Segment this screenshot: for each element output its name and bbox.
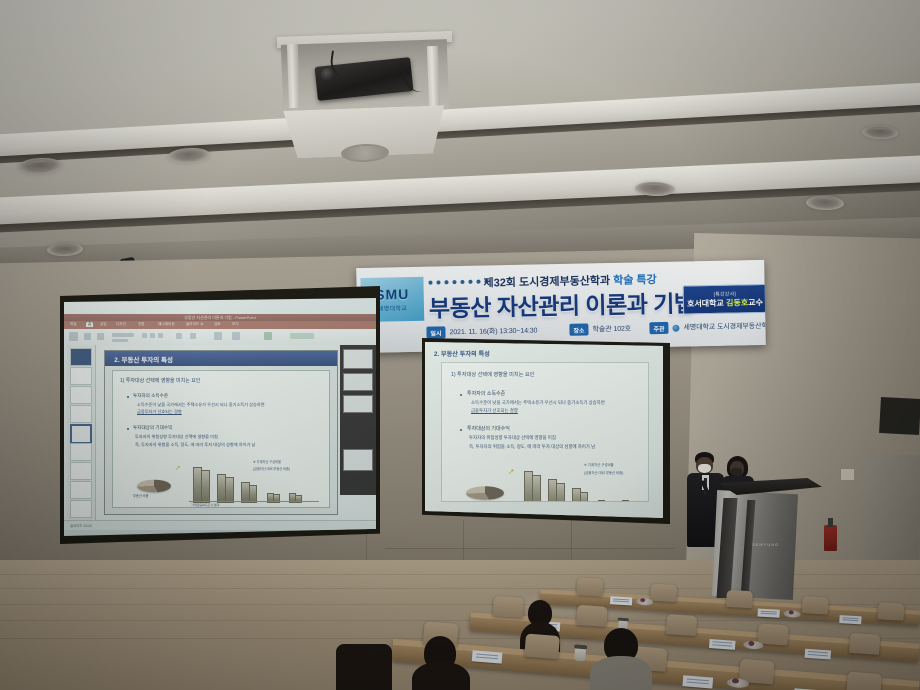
slide-canvas: 2. 부동산 투자의 특성 1) 투자대상 선택에 영향을 미치는 요인 투자자… [104, 350, 338, 515]
speaker-name-line: 호서대학교 김동호교수 [687, 296, 763, 309]
banner-dot-decoration [428, 279, 488, 284]
ribbon-find-icon[interactable] [264, 332, 272, 340]
chart-axis [189, 501, 319, 502]
audience-seat[interactable] [726, 590, 753, 608]
podium-label: SEMYUNG [752, 542, 779, 547]
projected-bullet-2-head: 투자대상의 기대수익 [467, 425, 510, 432]
projected-chart-pie [466, 486, 504, 499]
tab-view[interactable]: 보기 [232, 322, 239, 327]
tab-design[interactable]: 디자인 [116, 322, 126, 327]
ribbon-editing-group[interactable] [290, 333, 314, 339]
bullet-1-line-2: 금융투자가 선호되는 경향 [137, 409, 182, 415]
wall-outlet [840, 468, 855, 481]
slide-content-box: 1) 투자대상 선택에 영향을 미치는 요인 투자자의 소득수준 소득수준이 낮… [112, 370, 330, 508]
event-banner: SMU 세명대학교 제32회 도시경제부동산학과 학술 특강 부동산 자산관리 … [356, 260, 766, 353]
projector-lift-arm-left [287, 44, 300, 108]
projected-chart-arrow-icon: ➚ [508, 467, 515, 476]
slide-thumbnail[interactable] [70, 405, 92, 423]
ribbon-font-selector[interactable] [112, 333, 134, 337]
banner-main-title: 부동산 자산관리 이론과 기법 [429, 284, 695, 323]
powerpoint-title-bar: 부동산 자산관리 이론과 기법 - PowerPoint [64, 314, 376, 321]
ribbon-newslide-icon[interactable] [84, 333, 91, 340]
smu-abbr: SMU [375, 286, 409, 303]
ribbon-italic-icon[interactable] [150, 333, 155, 338]
slide-thumbnail[interactable] [70, 481, 92, 499]
right-projection-screen-frame: 2. 부동산 투자의 특성 1) 투자대상 선택에 영향을 미치는 요인 투자자… [422, 338, 670, 524]
chart-bar [295, 495, 302, 503]
audience-seat[interactable] [576, 605, 607, 627]
audience-seat[interactable] [877, 602, 904, 620]
powerpoint-ribbon[interactable] [64, 329, 376, 346]
audience-seat[interactable] [524, 633, 560, 659]
chart-caption-1: ※ 가계자산 구성비율 [253, 459, 281, 464]
projected-bullet-1-line-2: 금융투자가 선호되는 경향 [471, 408, 518, 414]
slide-thumbnail[interactable] [70, 386, 92, 404]
projected-heading: 1) 투자대상 선택에 영향을 미치는 요인 [451, 371, 534, 378]
chart-bar [201, 470, 210, 503]
attendee [336, 644, 392, 690]
bullet-marker [460, 394, 462, 396]
bullet-2-line-2: 즉, 투자자의 위험을 소득, 정도, 에 따라 투자 대상의 성향에 차이가 … [135, 442, 255, 448]
speaker-affiliation: 호서대학교 [687, 298, 724, 308]
footer-chip-date: 일시 [426, 326, 445, 338]
audience-seat[interactable] [846, 671, 882, 690]
bullet-2-head: 투자대상의 기대수익 [133, 425, 172, 431]
assistant-face-mask [731, 468, 742, 476]
banner-footer-date: 일시 2021. 11. 16(화) 13:30~14:30 [426, 324, 537, 338]
projected-slide-title: 2. 부동산 투자의 특성 [434, 349, 490, 358]
projected-bullet-2-line-2: 즉, 투자자의 위험을 소득, 정도, 에 따라 투자 대상의 성향에 차이가 … [469, 444, 595, 450]
bullet-marker [460, 429, 462, 431]
bullet-1-head: 투자자의 소득수준 [133, 393, 168, 399]
tab-home[interactable]: 홈 [86, 322, 93, 327]
ribbon-align-icon[interactable] [176, 333, 182, 339]
slide-heading: 1) 투자대상 선택에 영향을 미치는 요인 [120, 377, 200, 384]
slide-thumbnail[interactable] [70, 348, 92, 366]
handout-paper [472, 650, 503, 663]
footer-chip-host: 주관 [649, 322, 668, 334]
ribbon-paste-icon[interactable] [69, 332, 78, 341]
bullet-marker [127, 428, 129, 430]
projected-chart-bar [532, 475, 541, 502]
ribbon-bold-icon[interactable] [142, 333, 147, 338]
audience-seat[interactable] [666, 614, 697, 636]
banner-footer-place: 장소 학술관 102호 [569, 323, 631, 336]
tab-transitions[interactable]: 전환 [138, 322, 145, 327]
left-projection-screen: 부동산 자산관리 이론과 기법 - PowerPoint 파일 홈 삽입 디자인… [64, 298, 376, 536]
ribbon-arrange-icon[interactable] [214, 332, 222, 340]
tab-file[interactable]: 파일 [70, 322, 77, 327]
footer-value-host: 세명대학교 도시경제부동산학과 [683, 321, 765, 333]
tab-animations[interactable]: 애니메이션 [158, 322, 175, 327]
footer-value-date: 2021. 11. 16(화) 13:30~14:30 [449, 325, 537, 337]
slide-title: 2. 부동산 투자의 특성 [114, 354, 173, 364]
side-panel-preview[interactable] [343, 349, 373, 369]
handout-paper [682, 675, 713, 688]
tab-insert[interactable]: 삽입 [100, 322, 107, 327]
slide-chart-pie [137, 480, 171, 493]
audience-seat[interactable] [802, 596, 829, 614]
ribbon-layout-icon[interactable] [97, 333, 104, 340]
chart-pie-label: 부동산 비중 [133, 493, 149, 498]
powerpoint-status-bar: 슬라이드 12/40 [64, 520, 376, 530]
attendee-body [336, 644, 392, 690]
slide-thumbnail-selected[interactable] [70, 424, 92, 444]
footer-value-place: 학술관 102호 [592, 324, 631, 335]
coffee-cup [574, 647, 586, 661]
speaker-box: [특강강사] 호서대학교 김동호교수 [683, 284, 766, 315]
bullet-marker [127, 396, 129, 398]
fire-extinguisher-icon [824, 525, 837, 551]
projected-chart-bar [580, 492, 588, 502]
audience-seat[interactable] [650, 584, 677, 602]
tab-slideshow[interactable]: 슬라이드 쇼 [186, 322, 204, 327]
side-panel-preview[interactable] [343, 449, 373, 471]
ribbon-quickstyles-icon[interactable] [232, 332, 240, 340]
slide-thumbnail[interactable] [70, 462, 92, 480]
projected-chart-caption-2: (금융자산 대비 부동산 비중) [584, 470, 623, 475]
projected-bullet-1-line-1: 소득수준이 낮을 국가에서는 주택소유가 우선시 되나 중기소득기 상승하면 [471, 400, 605, 406]
attendee-body [590, 656, 652, 690]
fire-extinguisher-neck [828, 518, 833, 527]
right-projection-screen: 2. 부동산 투자의 특성 1) 투자대상 선택에 영향을 미치는 요인 투자자… [425, 342, 663, 518]
projected-chart-bar [622, 500, 629, 502]
ribbon-shape-icon[interactable] [190, 333, 196, 339]
slide-thumbnail[interactable] [70, 443, 92, 461]
attendee-body [412, 662, 470, 690]
projected-slide: 2. 부동산 투자의 특성 1) 투자대상 선택에 영향을 미치는 요인 투자자… [425, 342, 663, 518]
audience-seat[interactable] [757, 623, 788, 645]
chart-caption-2: (금융자산 대비 부동산 비중) [253, 466, 290, 471]
chart-bar [225, 477, 234, 503]
attendee [412, 636, 470, 690]
status-slide-counter: 슬라이드 12/40 [70, 523, 92, 528]
speaker-suffix: 교수 [748, 297, 763, 306]
projected-content-box: 1) 투자대상 선택에 영향을 미치는 요인 투자자의 소득수준 소득수준이 낮… [441, 362, 649, 502]
wall-speaker [879, 397, 920, 435]
bullet-2-line-1: 투자자의 위험성향 투자대상 선택에 영향을 미침 [135, 434, 218, 440]
chart-axis-label: 가계금융복지조사 결과 [191, 503, 219, 507]
wall-seam [385, 548, 675, 549]
projected-chart-bar [604, 501, 611, 502]
powerpoint-tab-strip[interactable]: 파일 홈 삽입 디자인 전환 애니메이션 슬라이드 쇼 검토 보기 [64, 321, 376, 329]
ribbon-underline-icon[interactable] [158, 333, 163, 338]
projected-bullet-2-line-1: 투자자의 위험성향 투자대상 선택에 영향을 미침 [469, 435, 556, 441]
powerpoint-side-panel[interactable] [340, 345, 376, 495]
slide-thumbnail[interactable] [70, 367, 92, 385]
slide-thumbnail[interactable] [70, 500, 92, 518]
tab-review[interactable]: 검토 [214, 322, 221, 327]
side-panel-preview[interactable] [343, 395, 373, 413]
audience-seat[interactable] [849, 633, 880, 655]
presenter-face-mask [698, 464, 711, 473]
side-panel-preview[interactable] [343, 373, 373, 391]
smu-university-name: 세명대학교 [378, 303, 407, 313]
speaker-name: 김동호 [726, 298, 748, 307]
projector-lift-arm-right [427, 46, 440, 108]
bullet-1-line-1: 소득수준이 낮을 국가에서는 주택소유가 우선시 되나 중기소득기 상승하면 [137, 402, 265, 408]
projected-chart-bar [556, 483, 565, 502]
left-projection-screen-frame: 부동산 자산관리 이론과 기법 - PowerPoint 파일 홈 삽입 디자인… [60, 286, 380, 544]
audience-seat[interactable] [576, 577, 603, 595]
lecture-hall-photo: SMU 세명대학교 제32회 도시경제부동산학과 학술 특강 부동산 자산관리 … [0, 0, 920, 690]
banner-footer-host: 주관 세명대학교 도시경제부동산학과 [649, 320, 765, 334]
attendee [590, 628, 652, 690]
chart-arrow-icon: ➚ [175, 464, 181, 472]
projected-bullet-1-head: 투자자의 소득수준 [467, 390, 505, 397]
ribbon-font-size[interactable] [112, 339, 128, 342]
projected-pie-label: 부동산 비중 [463, 500, 480, 502]
projected-chart-caption-1: ※ 가계자산 구성비율 [584, 462, 614, 467]
footer-chip-place: 장소 [569, 323, 588, 335]
slide-thumbnail-panel[interactable] [67, 345, 96, 520]
slide-title-band: 2. 부동산 투자의 특성 [105, 351, 337, 366]
